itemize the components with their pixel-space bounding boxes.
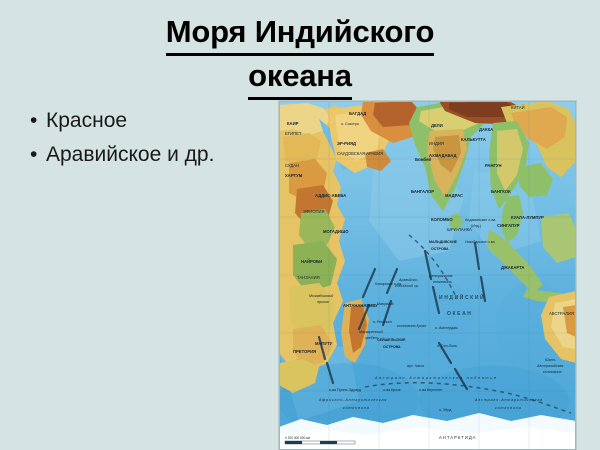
title-line-2-text: океана [248, 56, 352, 100]
map-feature-label: котловина [495, 406, 522, 410]
map-island-label: о. Сокотра [341, 122, 359, 126]
map-feature-label: котловина [433, 280, 452, 284]
map-feature-label: котловина Крозе [397, 324, 426, 328]
map-feature-label: котловина [343, 406, 370, 410]
map-city-label: НАЙРОБИ [301, 259, 322, 264]
slide: Моря Индийского океана • Красное • Арави… [0, 0, 600, 450]
map-city-label: КОЛОМБО [431, 217, 453, 222]
map-country-label: ТАНЗАНИЯ [297, 275, 320, 280]
map-feature-label: пролив [317, 300, 329, 304]
map-feature-label: котловина [543, 370, 562, 374]
indian-ocean-physical-map: КАИР ЕГИПЕТ СУДАН ХАРТУМ ЭФИОПИЯ АДДИС-А… [279, 101, 576, 450]
map-island-label: Никобарские о-ва [465, 240, 495, 244]
map-city-label: ЭР-РИЯД [337, 141, 356, 146]
map-country-label: КАИР [287, 121, 299, 126]
map-city-label: БАНГКОК [491, 189, 511, 194]
list-item: • Аравийское и др. [30, 142, 280, 168]
map-island-label: о. Реюньон [373, 320, 392, 324]
map-feature-label: Австрало-Антарктическое поднятие [374, 376, 498, 380]
bullet-marker-icon: • [30, 108, 46, 134]
map-island-label: СЕЙШЕЛЬСКИЕ [377, 338, 406, 342]
map-city-label: КАЛЬКУТТА [461, 137, 486, 142]
map-country-label: СУДАН [285, 163, 299, 168]
map-country-label: АНТАРКТИДА [439, 435, 476, 440]
map-island-label: о-ва Крозе [383, 388, 401, 392]
map-island-label: о. Хёрд [439, 408, 452, 412]
map-feature-label: Австралийская [536, 364, 563, 368]
map-country-label: АВСТРАЛИЯ [549, 311, 574, 316]
map-island-label: о-ва Принс-Эдуард [329, 388, 362, 392]
map-country-label: ИНДИЯ [429, 141, 444, 146]
map-country-label: ЕГИПЕТ [285, 131, 302, 136]
map-city-label: КУАЛА-ЛУМПУР [511, 215, 544, 220]
map-country-label: ЭФИОПИЯ [303, 209, 325, 214]
map-country-label: ШРИ-ЛАНКА [447, 227, 472, 232]
bullet-list: • Красное • Аравийское и др. [30, 108, 280, 176]
map-feature-label: Южно- [545, 358, 557, 362]
map-city-label: БАНГАЛОР [411, 189, 434, 194]
map-city-label: РАНГУН [485, 163, 501, 168]
page-title: Моря Индийского океана [0, 12, 600, 100]
map-ocean-label: ОКЕАН [447, 311, 473, 317]
map-ocean-label: ИНДИЙСКИЙ [439, 293, 485, 301]
bullet-text: Красное [46, 108, 127, 134]
map-feature-label: Австрало-Антарктическая [474, 398, 543, 402]
map-city-label: ДЕЛИ [431, 123, 443, 128]
bullet-text: Аравийское и др. [46, 142, 214, 168]
map-city-label: АДДИС-АБЕБА [315, 193, 346, 198]
map-city-label: МАДРАС [445, 193, 463, 198]
map-island-label: (Инд.) [471, 224, 481, 228]
map-city-label: МОГАДИШО [323, 229, 349, 234]
bullet-marker-icon: • [30, 142, 46, 168]
title-line-1: Моря Индийского [0, 12, 600, 56]
map-island-label: о. Амстердам [435, 326, 458, 330]
map-country-label: КИТАЙ [511, 105, 525, 110]
map-city-label: АХМАДАБАД [429, 153, 457, 158]
map-city-label: МАПУТУ [315, 341, 333, 346]
map-feature-label: Индийский хр. [395, 284, 419, 288]
map-island-label: ОСТРОВА [431, 247, 449, 251]
map-feature-label: Маскаренский [359, 330, 383, 334]
map-island-label: о. Сен-Поль [437, 344, 457, 348]
list-item: • Красное [30, 108, 280, 134]
map-feature-label: Аравийско- [398, 278, 419, 282]
map-city-label: АНТАНАНАРИВУ [343, 303, 378, 308]
map-city-label: ПРЕТОРИЯ [293, 349, 316, 354]
map-island-label: МАЛЬДИВСКИЕ [429, 240, 458, 244]
map-island-label: арх. Чагос [407, 364, 424, 368]
map-country-label: САУДОВСКАЯ АРАВИЯ [337, 151, 383, 156]
map-city-label: СИНГАПУР [497, 223, 520, 228]
title-line-1-text: Моря Индийского [166, 12, 435, 56]
map-city-label: ДЖАКАРТА [501, 265, 524, 270]
map-city-label: БАГДАД [349, 111, 366, 116]
map-island-label: о-ва Кергелен [419, 388, 442, 392]
title-line-2: океана [0, 56, 600, 100]
map-city-label: ХАРТУМ [285, 173, 303, 178]
map-island-label: ОСТРОВА [383, 345, 401, 349]
map-feature-label: хребет [364, 336, 378, 340]
map-city-label: ДАККА [479, 127, 493, 132]
map-island-label: Андаманские о-ва [465, 218, 495, 222]
map-feature-label: Африкано-Антарктическая [318, 398, 387, 402]
map-scale-label: 0 200 400 600 км [285, 436, 310, 440]
map-feature-label: Мозамбикский [309, 294, 333, 298]
map-island-label: Маврикий [377, 302, 394, 306]
map-feature-label: Центральная [429, 274, 452, 278]
map-graphic: КАИР ЕГИПЕТ СУДАН ХАРТУМ ЭФИОПИЯ АДДИС-А… [279, 101, 576, 450]
